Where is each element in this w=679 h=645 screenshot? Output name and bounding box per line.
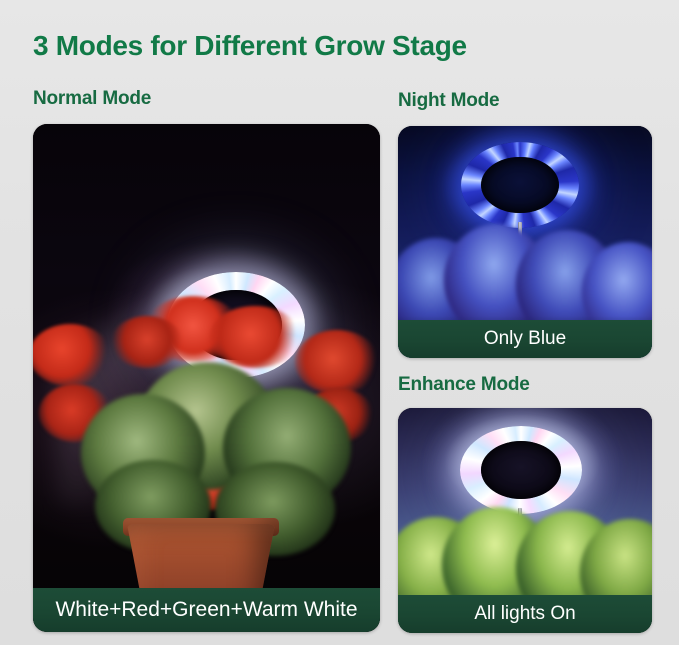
caption-night-mode: Only Blue — [398, 320, 652, 358]
scene-normal-mode — [33, 124, 380, 632]
section-label-enhance-mode: Enhance Mode — [398, 374, 530, 396]
ring-center-hole — [481, 441, 562, 499]
page-title: 3 Modes for Different Grow Stage — [33, 30, 467, 62]
flower-cluster-right — [295, 330, 379, 394]
flower-cluster-upper-left — [111, 316, 183, 368]
flower-cluster-left — [33, 324, 111, 386]
ring-center-hole — [481, 157, 559, 214]
section-label-normal-mode: Normal Mode — [33, 88, 151, 110]
caption-enhance-mode: All lights On — [398, 595, 652, 633]
image-panel-enhance-mode: All lights On — [398, 408, 652, 633]
caption-normal-mode: White+Red+Green+Warm White — [33, 588, 380, 632]
kalanchoe-plant — [33, 302, 380, 632]
poster-background: 3 Modes for Different Grow Stage Normal … — [0, 0, 679, 645]
image-panel-normal-mode: White+Red+Green+Warm White — [33, 124, 380, 632]
image-panel-night-mode: Only Blue — [398, 126, 652, 358]
section-label-night-mode: Night Mode — [398, 90, 499, 112]
flower-cluster-center-right — [209, 306, 301, 368]
